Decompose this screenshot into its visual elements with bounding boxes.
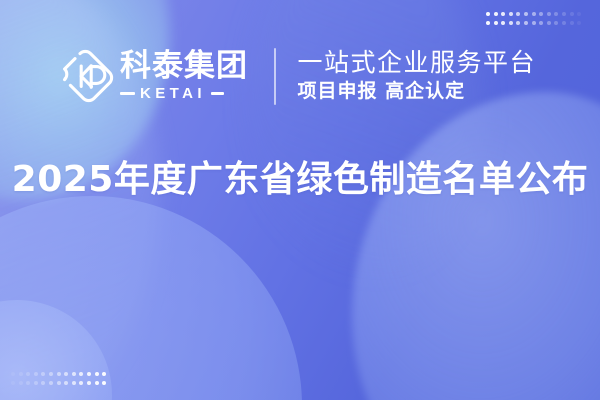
page-title: 2025年度广东省绿色制造名单公布 [0,157,600,202]
dot-icon [49,381,53,385]
dot-icon [577,21,581,25]
dot-icon [41,381,45,385]
dot-icon [501,21,505,25]
dot-icon [562,12,566,16]
dot-icon [539,12,543,16]
dot-icon [524,12,528,16]
dot-icon [102,372,106,376]
dot-icon [486,12,490,16]
dot-icon [501,12,505,16]
brand-name-en-row: KETAI [120,86,248,101]
dot-icon [516,21,520,25]
dot-icon [34,372,38,376]
dot-icon [102,381,106,385]
dot-icon [570,21,574,25]
dot-icon [486,21,490,25]
brand-name-en: KETAI [140,86,206,101]
dot-icon [26,372,30,376]
dot-icon [34,381,38,385]
dot-icon [509,12,513,16]
dot-icon [554,21,558,25]
blob-ellipse-icon [352,92,600,400]
dot-icon [72,381,76,385]
dot-icon [539,21,543,25]
dot-icon [95,372,99,376]
promo-banner: 科泰集团 KETAI 一站式企业服务平台 项目申报 高企认定 2025年度广东省… [0,0,600,400]
dot-icon [57,381,61,385]
dash-rule-left-icon [120,92,135,95]
ketai-diamond-monogram-icon [56,45,118,107]
dot-icon [87,372,91,376]
dot-icon [532,12,536,16]
banner-header: 科泰集团 KETAI 一站式企业服务平台 项目申报 高企认定 [0,38,600,114]
dot-icon [57,372,61,376]
dot-icon [562,21,566,25]
tagline-secondary: 项目申报 高企认定 [298,79,537,104]
dot-icon [11,381,15,385]
dot-grid-top-right-icon [486,12,581,25]
dot-icon [11,372,15,376]
dot-grid-bottom-left-icon [11,372,106,385]
dot-icon [554,12,558,16]
dot-icon [26,381,30,385]
brand-name-cn: 科泰集团 [120,51,248,83]
dot-icon [87,381,91,385]
blob-circle-icon [0,196,302,400]
dot-icon [72,372,76,376]
dot-icon [494,12,498,16]
dot-icon [41,372,45,376]
brand-logo: 科泰集团 KETAI [56,43,248,109]
dot-icon [494,21,498,25]
dot-icon [570,12,574,16]
dot-icon [49,372,53,376]
dot-icon [547,21,551,25]
tagline-block: 一站式企业服务平台 项目申报 高企认定 [298,43,537,109]
tagline-primary: 一站式企业服务平台 [298,48,537,78]
blob-nub-icon [0,300,112,400]
brand-wordmark: 科泰集团 KETAI [120,51,248,101]
dot-icon [79,381,83,385]
dot-icon [547,12,551,16]
vertical-divider-icon [274,48,276,105]
dot-icon [577,12,581,16]
dot-icon [64,381,68,385]
dot-icon [532,21,536,25]
dot-icon [95,381,99,385]
dot-icon [516,12,520,16]
dot-icon [64,372,68,376]
dot-icon [79,372,83,376]
dot-icon [19,381,23,385]
dot-icon [524,21,528,25]
dot-icon [19,372,23,376]
dot-icon [509,21,513,25]
dash-rule-right-icon [211,92,224,95]
